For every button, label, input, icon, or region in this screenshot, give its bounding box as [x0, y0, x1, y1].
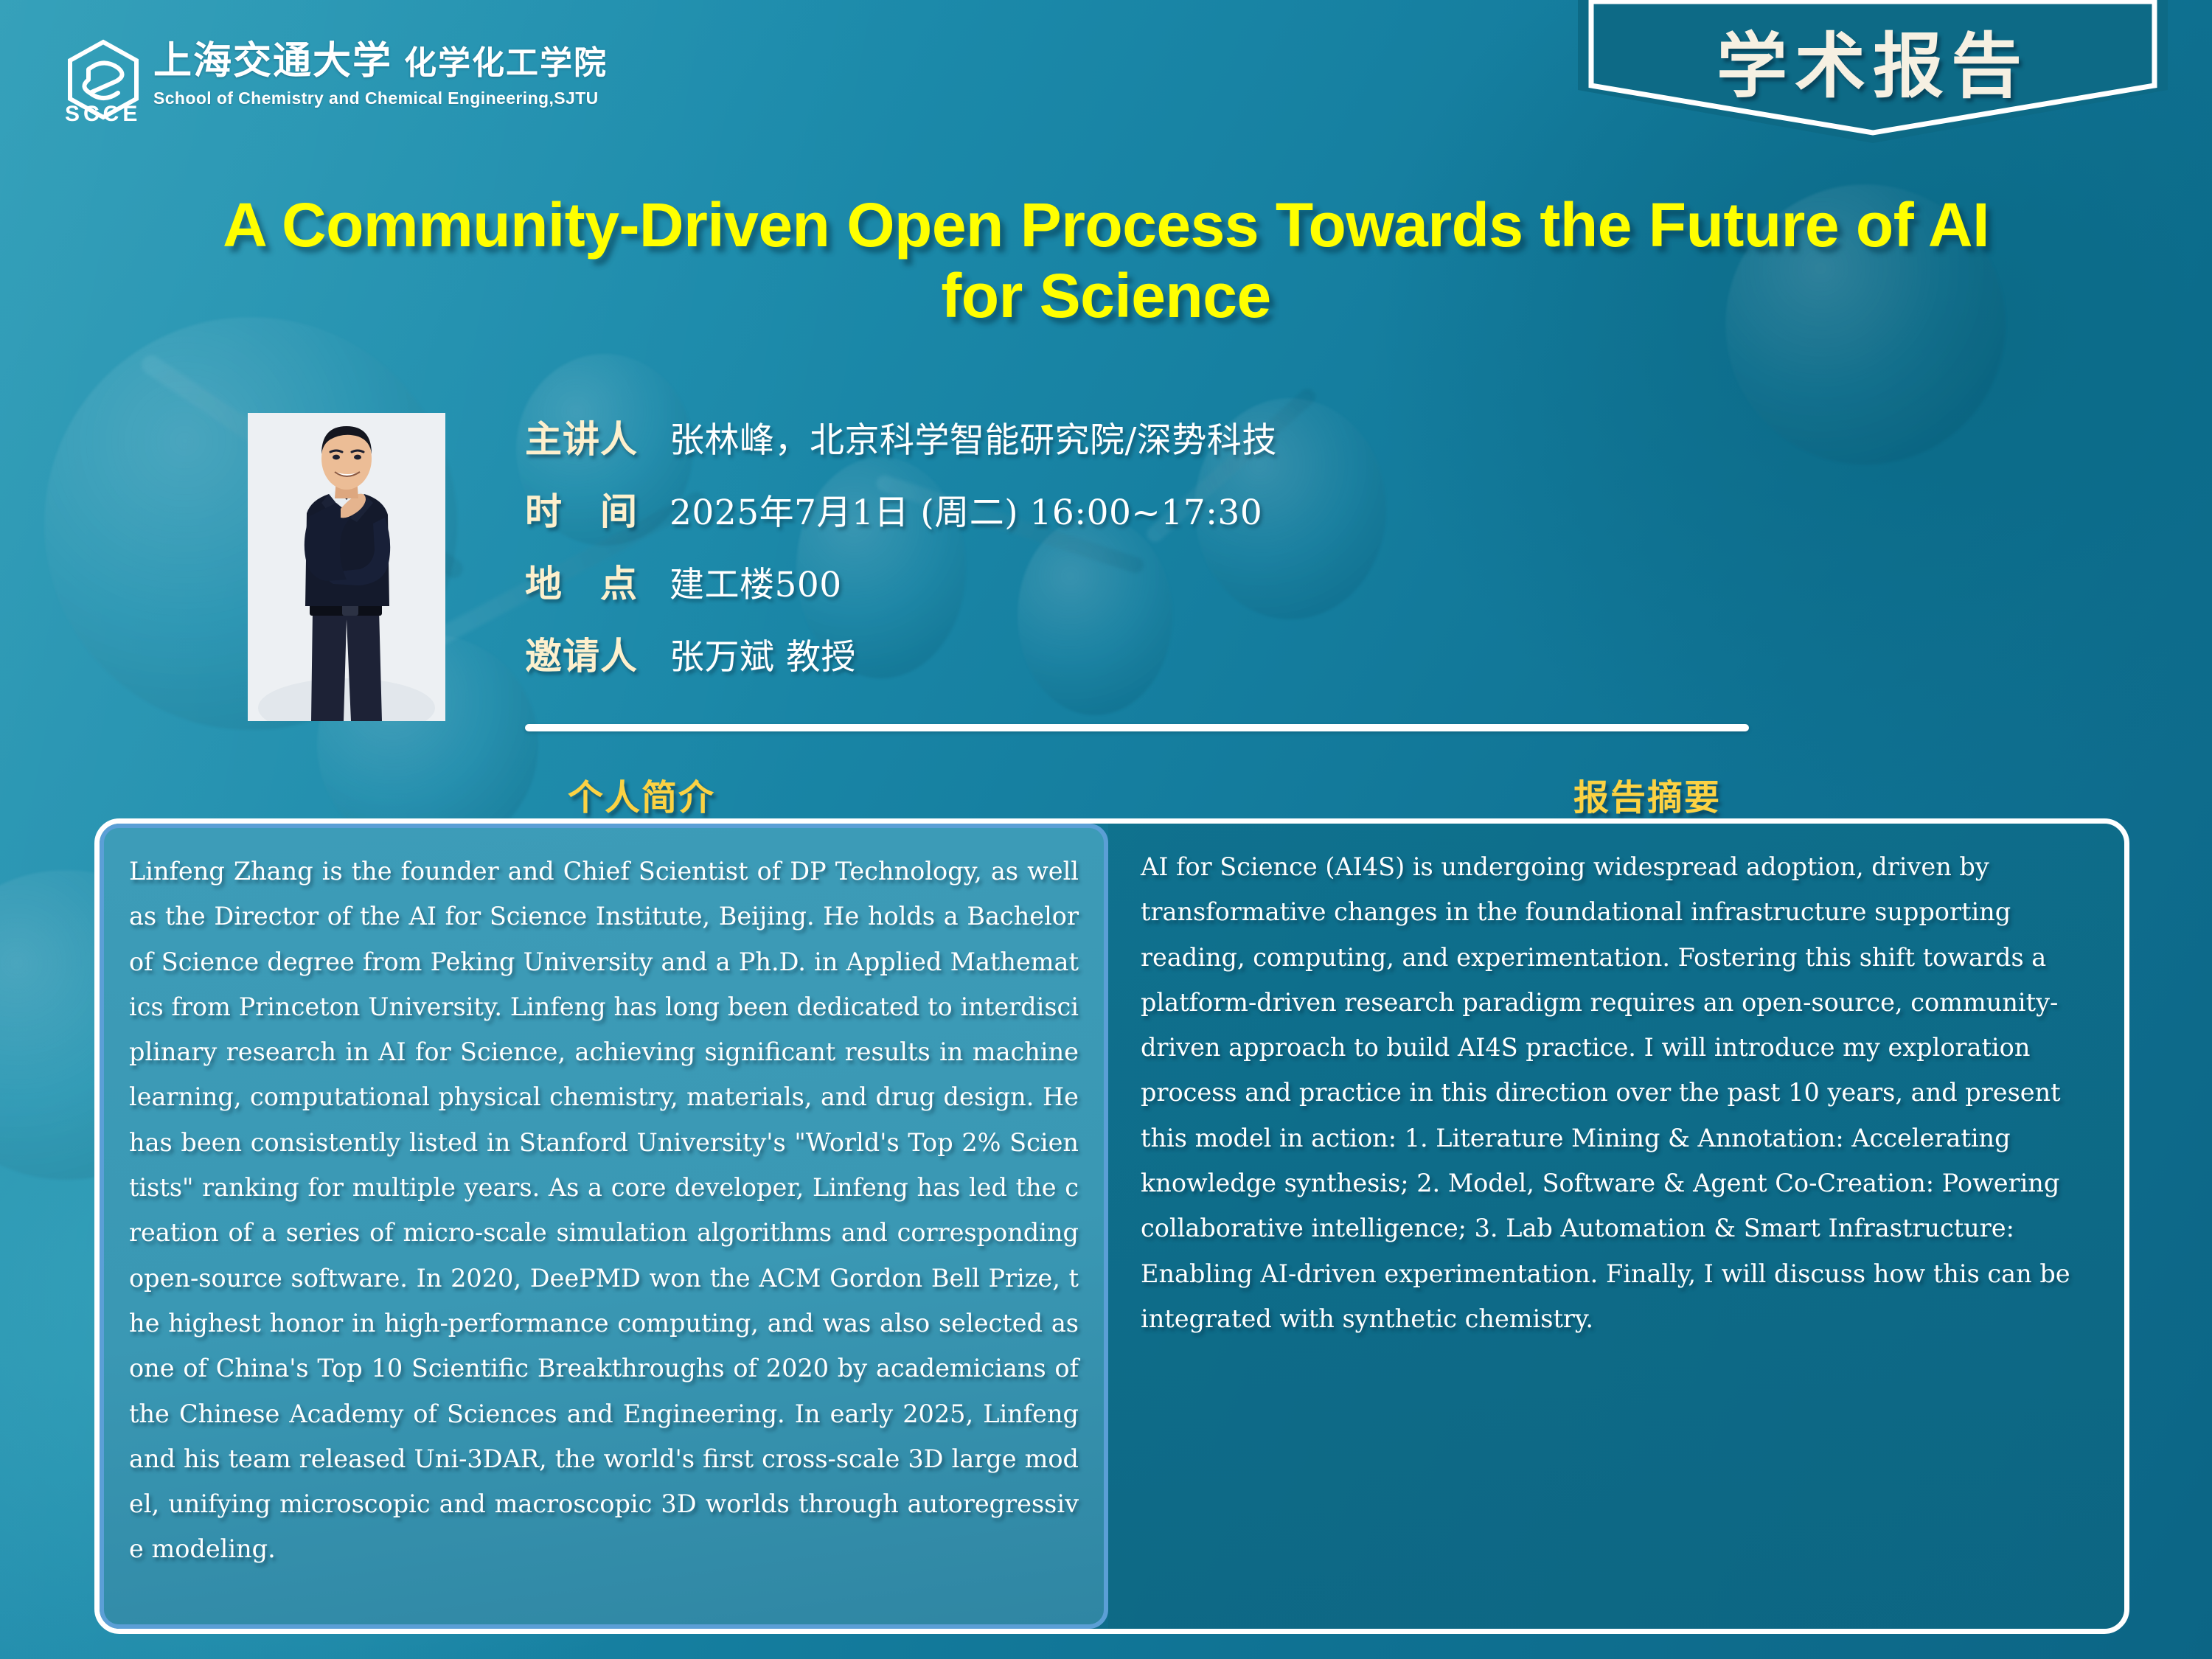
info-row-speaker: 主讲人 张林峰，北京科学智能研究院/深势科技: [525, 410, 1778, 463]
logo-university-cn: 上海交通大学: [153, 39, 392, 83]
section-heading-bio: 个人简介: [568, 768, 715, 820]
info-value-location: 建工楼500: [669, 556, 842, 607]
logo-chinese-name: 上海交通大学化学化工学院: [153, 41, 608, 82]
info-value-speaker: 张林峰，北京科学智能研究院/深势科技: [669, 411, 1277, 462]
logo-acronym: SCCE: [65, 102, 141, 127]
info-value-host: 张万斌 教授: [669, 628, 856, 679]
speaker-portrait-photo: [248, 413, 445, 721]
info-label-time: 时 间: [525, 482, 669, 535]
info-value-time: 2025年7月1日 (周二) 16:00~17:30: [669, 484, 1262, 535]
info-label-speaker: 主讲人: [525, 410, 669, 463]
info-label-host: 邀请人: [525, 627, 669, 680]
abstract-panel: AI for Science (AI4S) is undergoing wide…: [1108, 824, 2124, 1629]
content-box: Linfeng Zhang is the founder and Chief S…: [94, 818, 2129, 1634]
bio-panel: Linfeng Zhang is the founder and Chief S…: [100, 824, 1108, 1629]
sjtu-scce-logo: SCCE 上海交通大学化学化工学院 School of Chemistry an…: [65, 38, 608, 128]
info-row-location: 地 点 建工楼500: [525, 554, 1778, 608]
info-row-host: 邀请人 张万斌 教授: [525, 627, 1778, 680]
academic-report-ribbon: 学术报告: [1578, 0, 2168, 143]
logo-english-name: School of Chemistry and Chemical Enginee…: [153, 88, 608, 108]
info-label-location: 地 点: [525, 554, 669, 608]
portrait-illustration-icon: [248, 413, 445, 721]
bio-text: Linfeng Zhang is the founder and Chief S…: [129, 849, 1079, 1572]
horizontal-divider: [525, 724, 1749, 731]
seminar-info-list: 主讲人 张林峰，北京科学智能研究院/深势科技 时 间 2025年7月1日 (周二…: [525, 410, 1778, 699]
section-heading-abstract: 报告摘要: [1573, 768, 1721, 820]
content-panels: Linfeng Zhang is the founder and Chief S…: [100, 824, 2124, 1629]
logo-department-cn: 化学化工学院: [404, 44, 608, 82]
info-row-time: 时 间 2025年7月1日 (周二) 16:00~17:30: [525, 482, 1778, 535]
page-title: A Community-Driven Open Process Towards …: [221, 190, 1991, 332]
ribbon-label: 学术报告: [1578, 9, 2168, 111]
abstract-text: AI for Science (AI4S) is undergoing wide…: [1141, 844, 2092, 1341]
